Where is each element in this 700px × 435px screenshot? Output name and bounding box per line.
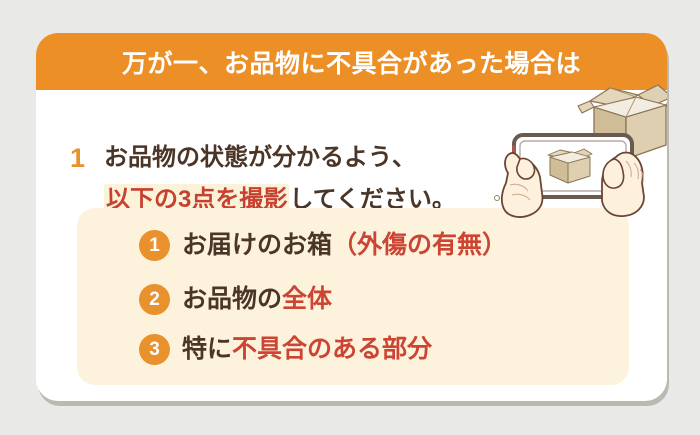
list-item-badge-3: 3 [139,334,170,365]
list-item: 3 特に不具合のある部分 [139,334,432,365]
step-instruction-line-1: お品物の状態が分かるよう、 [104,146,416,170]
list-item-text-dark-2: お品物の [182,285,282,313]
list-item: 1 お届けのお箱（外傷の有無） [139,230,507,261]
list-item-text-red-3: 不具合のある部分 [232,335,432,363]
card-header-bar: 万が一、お品物に不具合があった場合は [36,33,667,90]
list-item-text-1: お届けのお箱（外傷の有無） [182,233,507,258]
list-item-badge-1: 1 [139,230,170,261]
list-item-text-dark-1: お届けのお箱 [182,231,332,259]
list-item-text-red-1: （外傷の有無） [332,231,507,259]
list-item-text-3: 特に不具合のある部分 [182,337,432,362]
list-item-badge-2: 2 [139,284,170,315]
list-item: 2 お品物の全体 [139,284,332,315]
list-item-text-red-2: 全体 [282,285,332,313]
list-item-text-2: お品物の全体 [182,287,332,312]
photo-checklist-panel: 1 お届けのお箱（外傷の有無） 2 お品物の全体 3 特に不具合のある部分 [77,208,629,385]
step-number: 1 [70,145,85,172]
list-item-text-dark-3: 特に [182,335,232,363]
notice-card: 万が一、お品物に不具合があった場合は 1 お品物の状態が分かるよう、 以下の3点… [36,33,667,401]
step-one-block: 1 お品物の状態が分かるよう、 以下の3点を撮影してください。 [36,90,667,208]
header-title: 万が一、お品物に不具合があった場合は [122,44,581,80]
